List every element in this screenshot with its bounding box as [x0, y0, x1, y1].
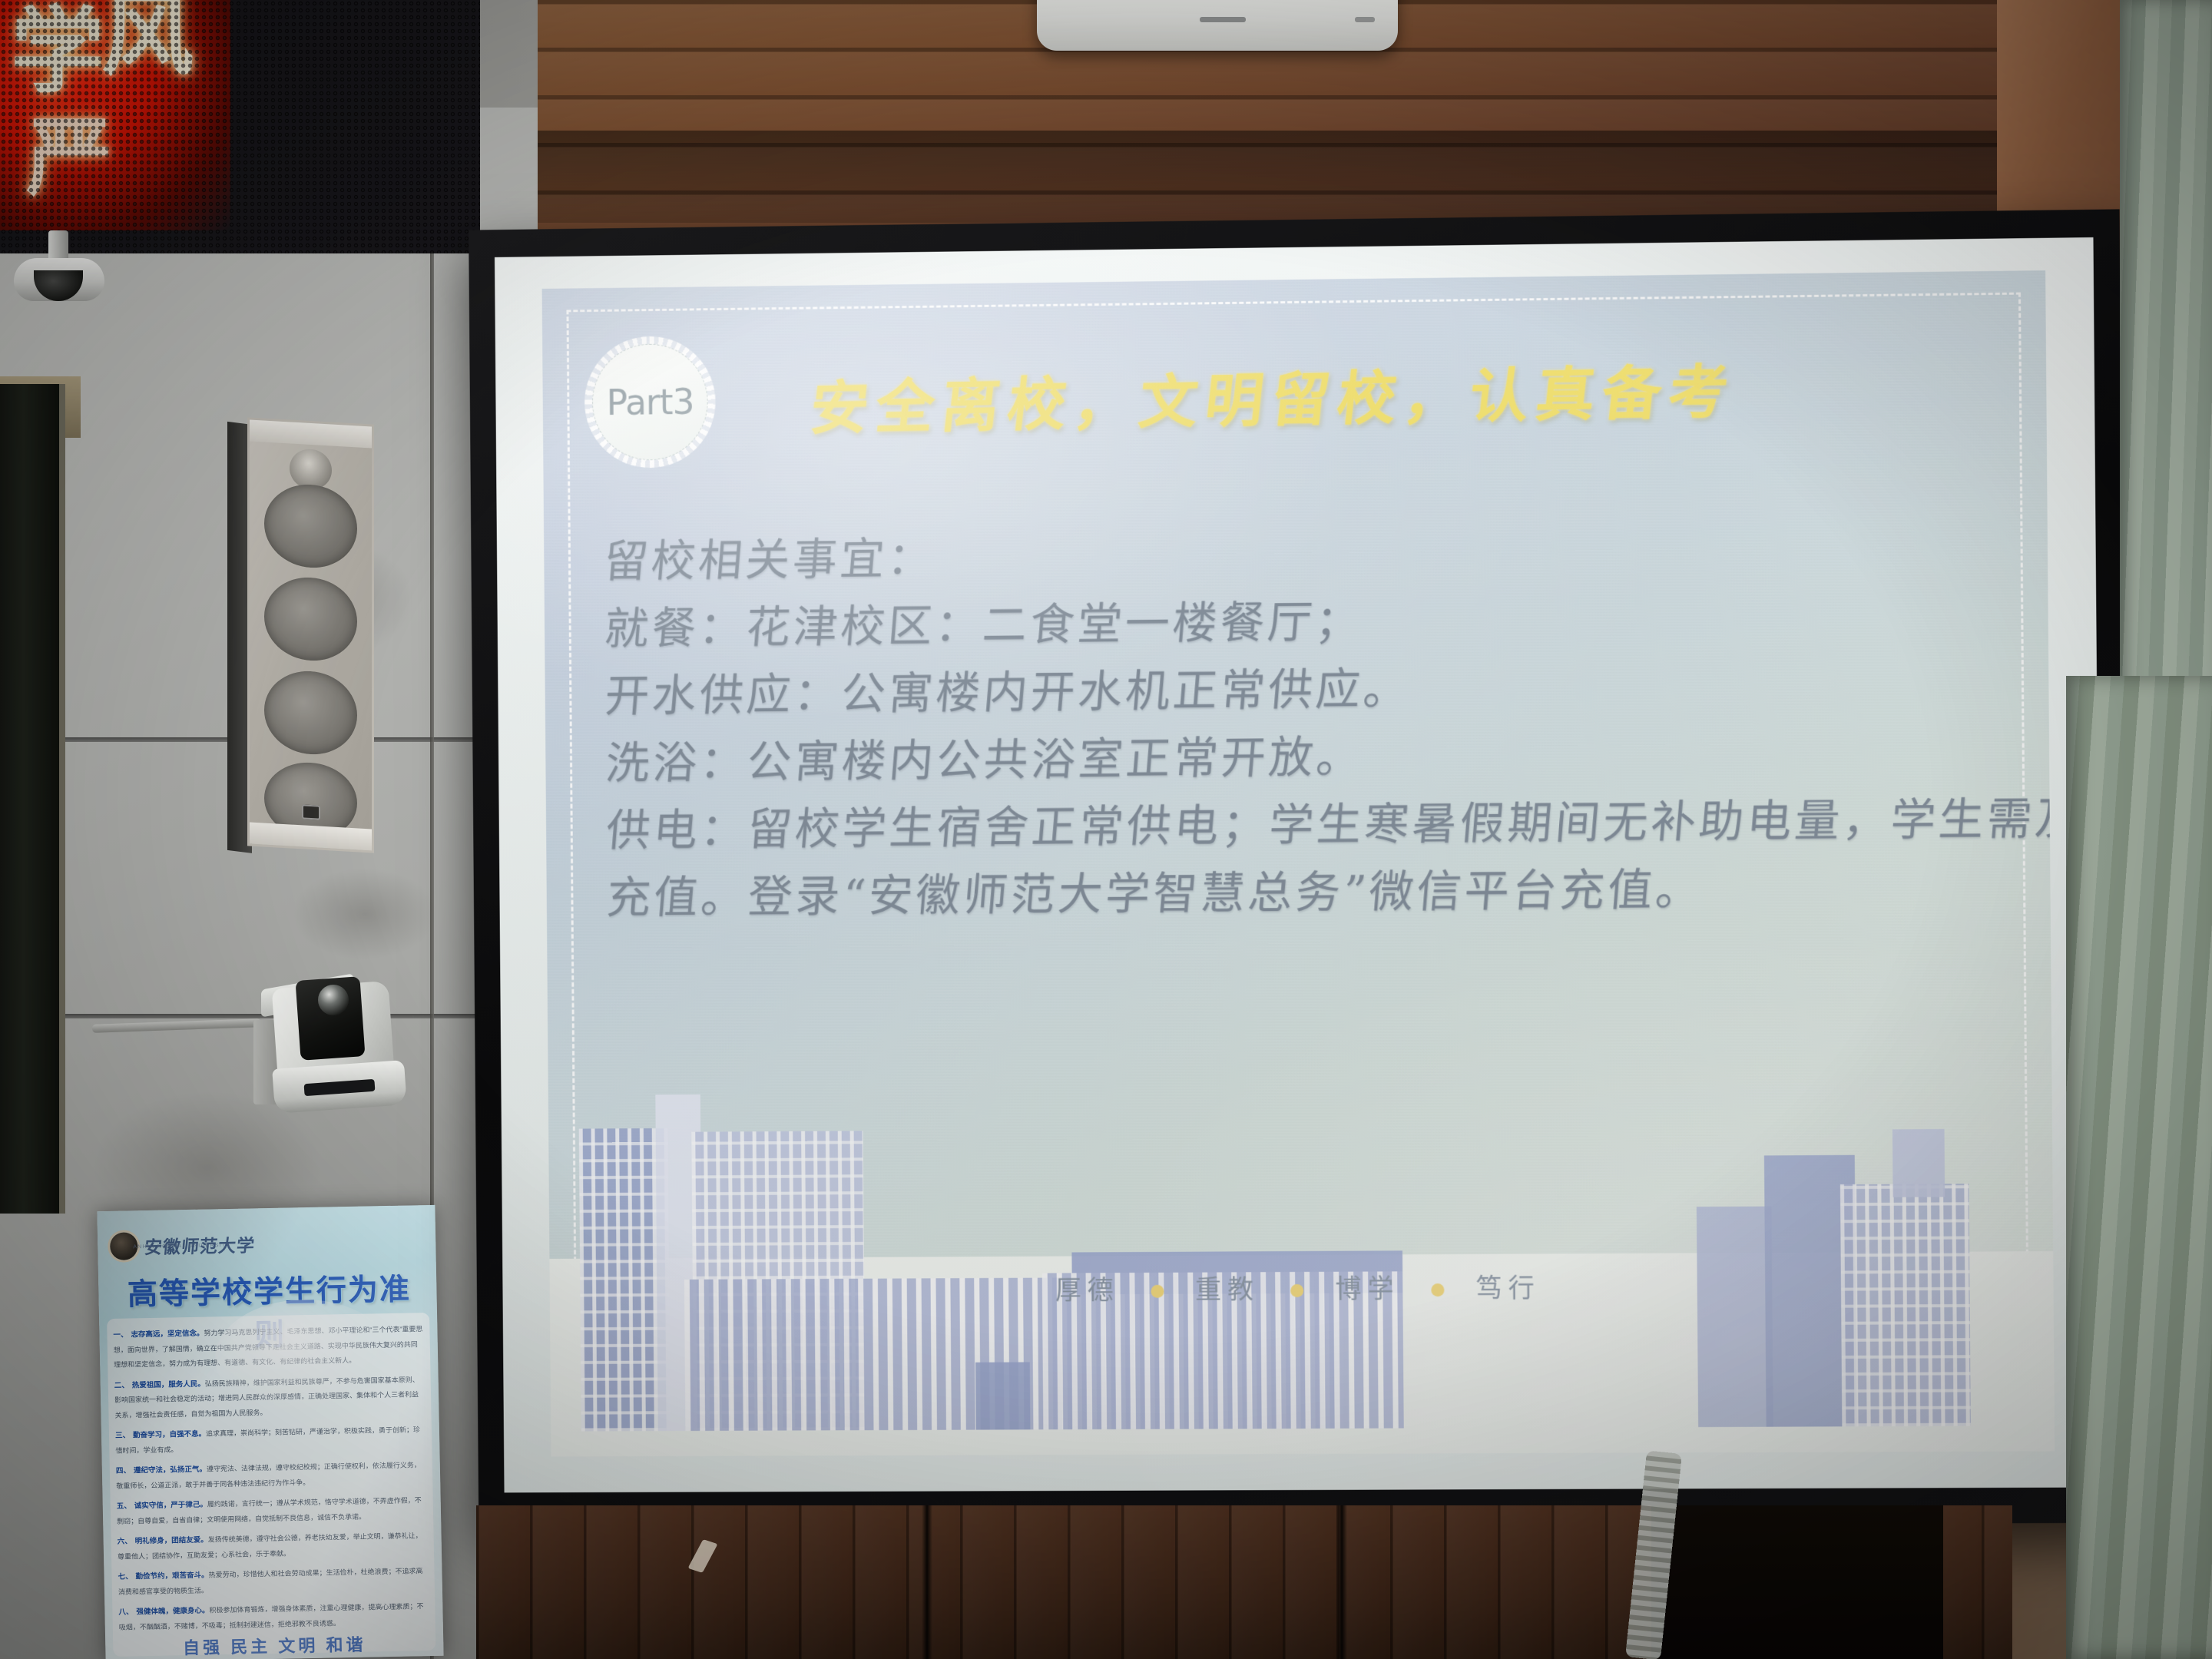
motto-word-2: 重教 [1195, 1274, 1260, 1305]
projection-screen[interactable]: Part3 安全离校，文明留校，认真备考 留校相关事宜：就餐：花津校区：二食堂一… [495, 237, 2103, 1492]
building-right-cap [1892, 1129, 1945, 1197]
dome-camera [14, 230, 104, 307]
motto-dot-2 [1291, 1284, 1304, 1297]
ptz-lens-icon [318, 985, 349, 1015]
building-right-grid [1839, 1184, 1970, 1426]
slide-title: 安全离校，文明留校，认真备考 [806, 344, 1740, 445]
slide-line-3: 开水供应：公寓楼内开水机正常供应。 [602, 649, 2005, 730]
slide-motto: 厚德 重教 博学 笃行 [550, 1264, 2053, 1309]
speaker-driver-2 [264, 575, 357, 663]
speaker-driver-1 [264, 482, 357, 570]
presentation-slide: Part3 安全离校，文明留校，认真备考 留校相关事宜：就餐：花津校区：二食堂一… [542, 270, 2055, 1456]
screw-icon [1355, 17, 1375, 22]
motto-word-1: 厚德 [1055, 1275, 1120, 1306]
classroom-scene: 学 风 严 安徽 [0, 0, 2212, 1659]
part-badge: Part3 [584, 336, 717, 469]
ceiling-unit [1037, 0, 1398, 51]
dark-cabinet [0, 384, 65, 1214]
slide-line-6: 充值。登录“安徽师范大学智慧总务”微信平台充值。 [604, 853, 2007, 932]
building-right-slab [1696, 1206, 1773, 1427]
building-entrance [975, 1362, 1030, 1429]
slide-line-4: 洗浴：公寓楼内公共浴室正常开放。 [603, 717, 2006, 797]
campus-illustration: 厚德 重教 博学 笃行 [548, 1026, 2055, 1457]
ptz-camera [253, 974, 445, 1128]
part-badge-label: Part3 [606, 381, 694, 423]
dark-recess [1651, 1505, 1943, 1659]
wall-speaker [247, 417, 374, 853]
slide-line-2: 就餐：花津校区：二食堂一楼餐厅； [601, 581, 2005, 662]
motto-dot-1 [1151, 1285, 1164, 1298]
slide-body: 留校相关事宜：就餐：花津校区：二食堂一楼餐厅；开水供应：公寓楼内开水机正常供应。… [604, 513, 2005, 932]
led-pixel-mask [0, 0, 480, 253]
motto-word-4: 笃行 [1475, 1273, 1541, 1303]
projection-screen-frame: Part3 安全离校，文明留校，认真备考 留校相关事宜：就餐：花津校区：二食堂一… [469, 209, 2130, 1528]
led-sign: 学 风 严 [0, 0, 480, 253]
speaker-driver-3 [264, 669, 357, 757]
motto-word-3: 博学 [1335, 1273, 1399, 1304]
vent-icon [1200, 17, 1246, 22]
curtain-lower [2066, 676, 2212, 1659]
slide-line-5: 供电：留校学生宿舍正常供电；学生寒暑假期间无补助电量，学生需及时 [604, 785, 2007, 864]
speaker-logo [302, 805, 320, 820]
poster-shading [97, 1205, 443, 1659]
student-code-poster: 安徽师范大学 ANHUI NORMAL UNIVERSITY 高等学校学生行为准… [97, 1205, 443, 1659]
motto-dot-3 [1431, 1283, 1444, 1296]
